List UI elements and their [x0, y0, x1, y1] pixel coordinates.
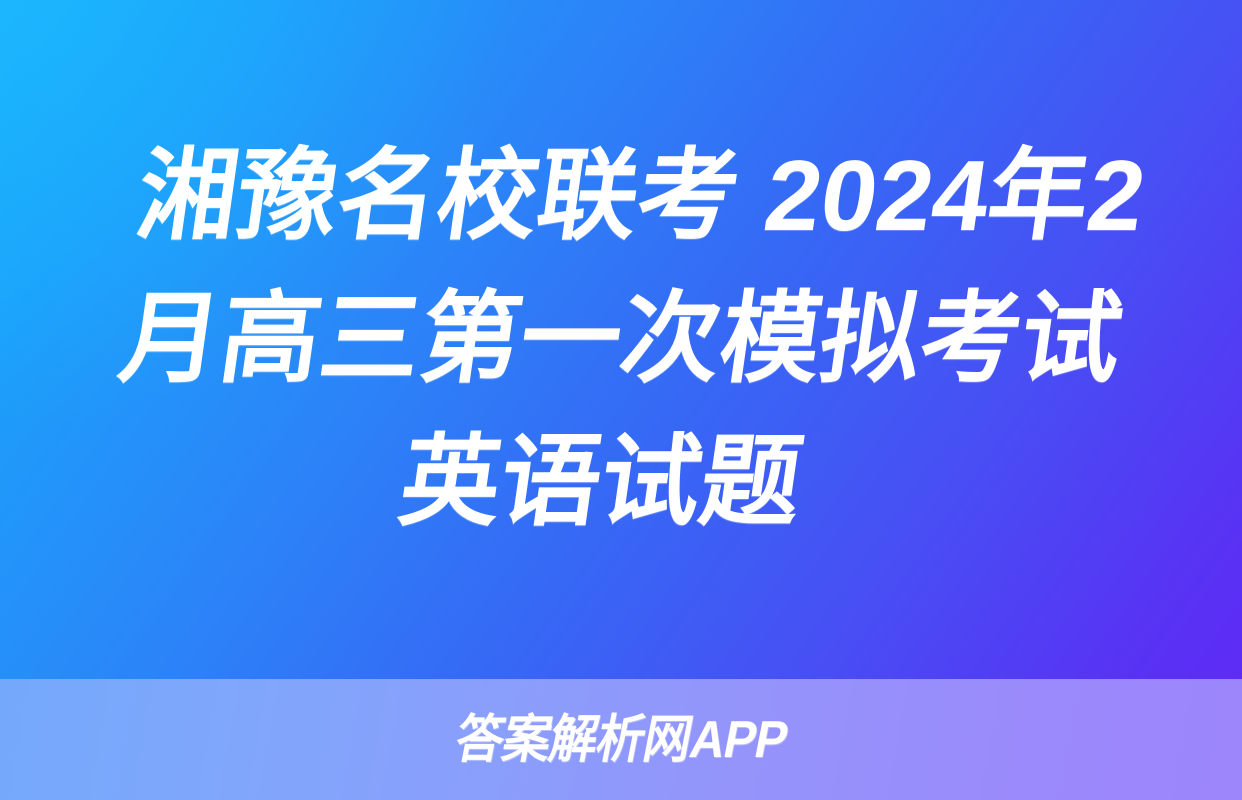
brand-banner-label: 答案解析网APP [451, 714, 791, 766]
title-container: 湘豫名校联考 2024年2月高三第一次模拟考试英语试题 [0, 0, 1242, 679]
poster-title: 湘豫名校联考 2024年2月高三第一次模拟考试英语试题 [61, 125, 1181, 554]
brand-banner: 答案解析网APP [0, 679, 1242, 800]
poster-image: 湘豫名校联考 2024年2月高三第一次模拟考试英语试题 答案解析网APP [0, 0, 1242, 800]
